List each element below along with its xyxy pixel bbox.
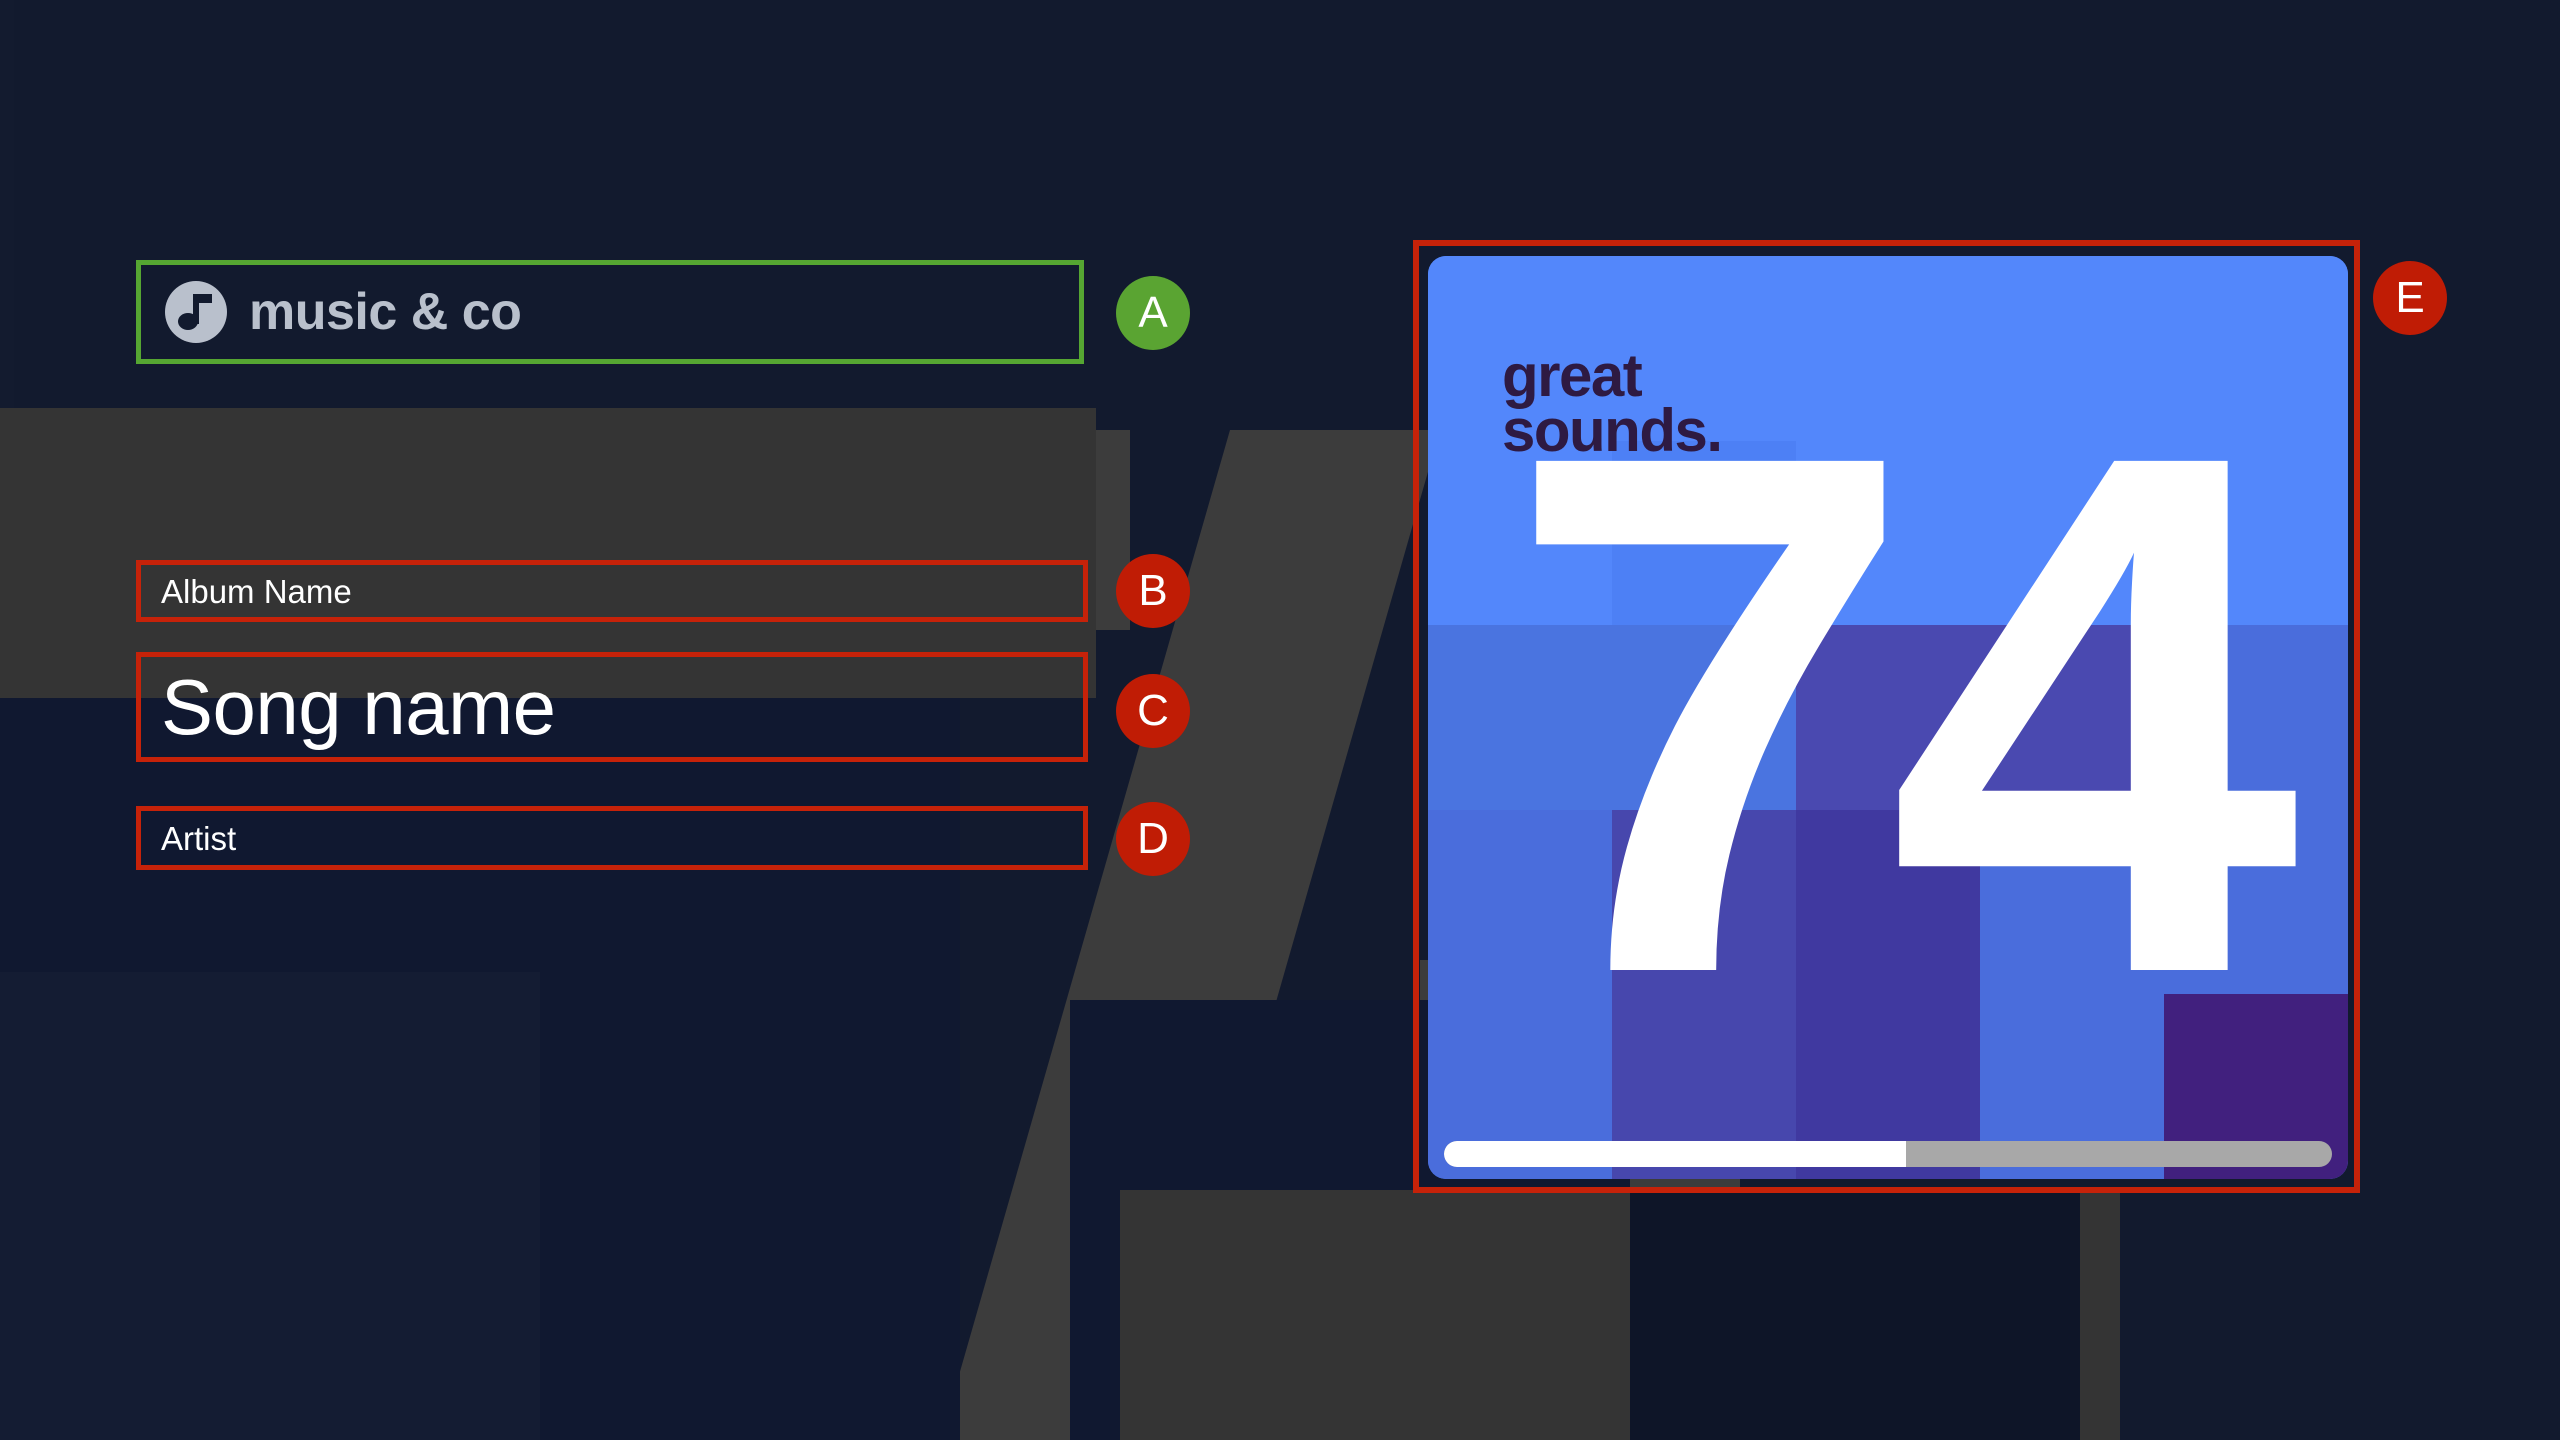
annotation-badge-b: B bbox=[1116, 554, 1190, 628]
playback-progress-fill bbox=[1444, 1141, 1906, 1167]
album-art-caption-line1: great bbox=[1502, 348, 1722, 403]
artist-field[interactable]: Artist bbox=[136, 806, 1088, 870]
album-art-caption: great sounds. bbox=[1502, 348, 1722, 458]
brand-header[interactable]: music & co bbox=[136, 260, 1084, 364]
annotation-badge-a: A bbox=[1116, 276, 1190, 350]
background-dark-column-lower bbox=[0, 972, 540, 1440]
song-name-field[interactable]: Song name bbox=[136, 652, 1088, 762]
brand-name-label: music & co bbox=[249, 286, 521, 338]
album-art[interactable]: 74 great sounds. bbox=[1428, 256, 2348, 1179]
annotation-badge-d: D bbox=[1116, 802, 1190, 876]
background-dark-right bbox=[1630, 1190, 2080, 1440]
note-flag-shape bbox=[193, 294, 212, 303]
app-screen: music & co Album Name Song name Artist A… bbox=[0, 0, 2560, 1440]
music-note-circle-icon bbox=[165, 281, 227, 343]
background-dark-far-right bbox=[2120, 1190, 2560, 1440]
annotation-badge-c: C bbox=[1116, 674, 1190, 748]
album-art-caption-line2: sounds. bbox=[1502, 403, 1722, 458]
album-name-label: Album Name bbox=[161, 575, 352, 608]
playback-progress-bar[interactable] bbox=[1444, 1141, 2332, 1167]
song-name-label: Song name bbox=[161, 668, 555, 746]
artist-label: Artist bbox=[161, 822, 236, 855]
background-gray-edge bbox=[0, 408, 8, 698]
annotation-badge-e: E bbox=[2373, 261, 2447, 335]
album-name-field[interactable]: Album Name bbox=[136, 560, 1088, 622]
